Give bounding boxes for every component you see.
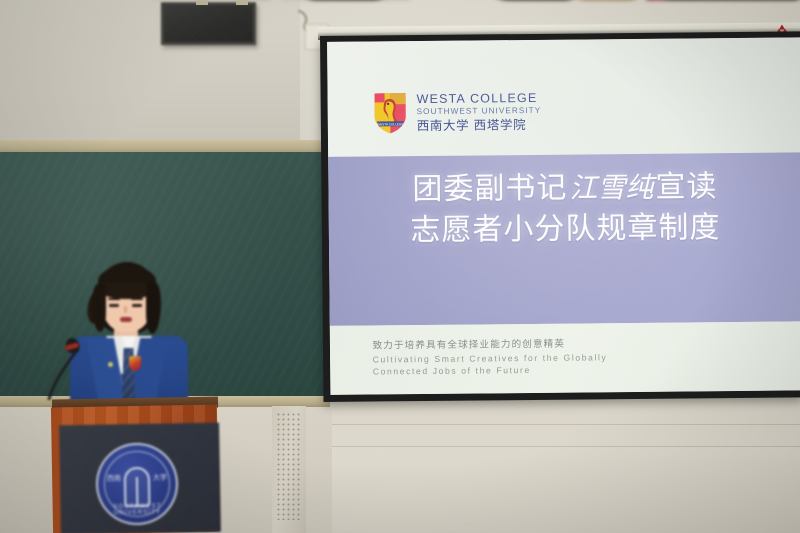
logo-english-primary: WESTA COLLEGE <box>416 92 541 106</box>
monitor-mount-tab <box>196 0 208 5</box>
speaker-eyebrow-right <box>131 298 143 300</box>
classroom-photo-scene: WESTA COLLEGE WESTA COLLEGE SOUTHWEST UN… <box>0 0 800 533</box>
speaker-school-badge <box>129 356 141 371</box>
speaker-eye-left <box>109 304 119 307</box>
speaker-eyebrow-left <box>108 298 120 300</box>
presentation-slide: WESTA COLLEGE WESTA COLLEGE SOUTHWEST UN… <box>327 37 800 395</box>
monitor-mount-tab <box>236 0 248 5</box>
speaker-hair-side-right <box>146 282 161 334</box>
seal-chinese-left: 西南 <box>107 473 121 483</box>
seal-emblem-mark <box>124 467 151 507</box>
lower-right-wall <box>300 398 800 533</box>
wall-mounted-monitor <box>161 2 256 45</box>
pillar-perforation-pattern <box>276 412 300 520</box>
slide-title: 团委副书记江雪纯宣读 志愿者小分队规章制度 <box>328 166 800 252</box>
microphone-gooseneck <box>46 348 80 400</box>
title-action-suffix: 宣读 <box>655 169 717 205</box>
speaker-lapel-pin <box>108 362 113 367</box>
title-role-prefix: 团委副书记 <box>412 170 567 206</box>
svg-text:WESTA COLLEGE: WESTA COLLEGE <box>377 123 403 127</box>
southwest-university-seal: 西南 大学 SOUTHWEST UNIVERSITY <box>95 442 178 525</box>
speaker-mouth <box>120 317 132 322</box>
speaker-hair-side-left <box>92 284 106 332</box>
tagline-chinese: 致力于培养具有全球择业能力的创意精英 <box>372 338 607 353</box>
title-speaker-name: 江雪纯 <box>567 171 655 205</box>
slide-tagline: 致力于培养具有全球择业能力的创意精英 Cultivating Smart Cre… <box>372 338 607 379</box>
speaker-eye-right <box>132 304 142 307</box>
seal-chinese-right: 大学 <box>153 472 167 482</box>
speaker-nose <box>124 306 127 313</box>
seal-english-text: SOUTHWEST UNIVERSITY <box>98 503 176 516</box>
slide-title-line-2: 志愿者小分队规章制度 <box>329 207 800 252</box>
wall-seam-line <box>300 446 800 447</box>
logo-english-secondary: SOUTHWEST UNIVERSITY <box>417 107 542 116</box>
projection-screen: WESTA COLLEGE WESTA COLLEGE SOUTHWEST UN… <box>320 31 800 402</box>
tagline-english-line-1: Cultivating Smart Creatives for the Glob… <box>373 352 608 366</box>
logo-chinese: 西南大学 西塔学院 <box>417 118 542 132</box>
slide-title-line-1: 团委副书记江雪纯宣读 <box>328 166 800 211</box>
wall-seam-line <box>300 424 800 425</box>
tagline-english-line-2: Connected Jobs of the Future <box>373 365 608 379</box>
slide-logo-lockup: WESTA COLLEGE WESTA COLLEGE SOUTHWEST UN… <box>372 89 541 135</box>
westa-college-shield-crest-icon: WESTA COLLEGE <box>372 91 407 135</box>
